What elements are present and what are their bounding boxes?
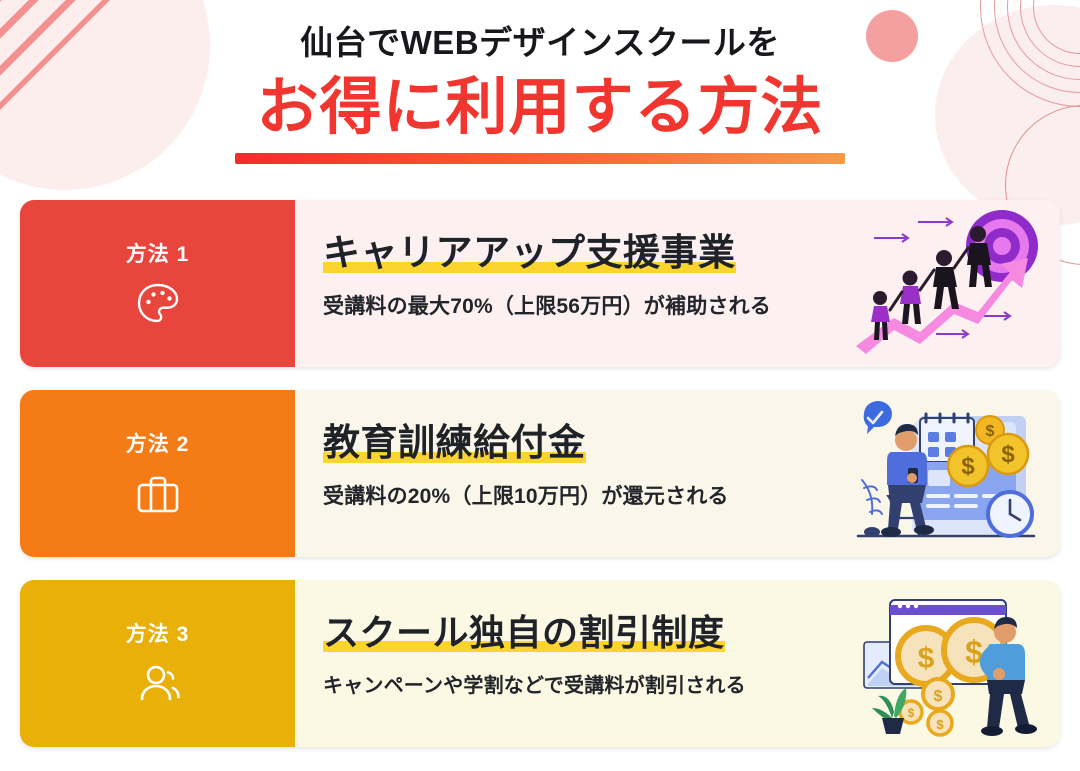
briefcase-icon — [132, 468, 184, 520]
svg-text:$: $ — [918, 642, 935, 675]
palette-icon — [132, 278, 184, 330]
method-card-1-panel: 方法 1 — [20, 200, 295, 367]
method-card-2-body: 教育訓練給付金 受講料の20%（上限10万円）が還元される — [295, 390, 1060, 557]
method-card-3-panel: 方法 3 — [20, 580, 295, 747]
title-underline-bar — [235, 153, 845, 164]
method-card-3-body: スクール独自の割引制度 キャンペーンや学割などで受講料が割引される — [295, 580, 1060, 747]
method-card-3-label: 方法 3 — [126, 618, 190, 648]
svg-text:$: $ — [936, 717, 944, 732]
title-subtitle: 仙台でWEBデザインスクールを — [0, 22, 1080, 65]
method-card-2-label: 方法 2 — [126, 428, 190, 458]
users-icon — [132, 658, 184, 710]
person-with-coins-and-chart-illustration: $ $ $ $ $ — [850, 586, 1046, 741]
method-card-3-title: スクール独自の割引制度 — [323, 613, 725, 653]
page-title: 仙台でWEBデザインスクールを お得に利用する方法 — [0, 22, 1080, 164]
title-main: お得に利用する方法 — [0, 69, 1080, 147]
method-card-2-title: 教育訓練給付金 — [323, 423, 586, 464]
svg-text:$: $ — [961, 453, 975, 480]
method-card-list: 方法 1 キャリアアップ支援事業 受講料の最大70%（上限56万円）が補助される — [20, 200, 1060, 770]
svg-text:$: $ — [908, 706, 915, 720]
people-climbing-arrow-to-target-illustration — [850, 206, 1046, 361]
method-card-1[interactable]: 方法 1 キャリアアップ支援事業 受講料の最大70%（上限56万円）が補助される — [20, 200, 1060, 367]
svg-text:$: $ — [934, 688, 943, 705]
method-card-1-body: キャリアアップ支援事業 受講料の最大70%（上限56万円）が補助される — [295, 200, 1060, 367]
method-card-2[interactable]: 方法 2 教育訓練給付金 受講料の20%（上限10万円）が還元される — [20, 390, 1060, 557]
method-card-3[interactable]: 方法 3 スクール独自の割引制度 キャンペーンや学割などで受講料が割引される — [20, 580, 1060, 747]
svg-text:$: $ — [1001, 441, 1015, 468]
method-card-1-title: キャリアアップ支援事業 — [323, 233, 736, 274]
person-with-credit-card-and-coins-illustration: $ $ $ — [850, 396, 1046, 551]
svg-text:$: $ — [986, 423, 995, 440]
method-card-1-label: 方法 1 — [126, 238, 190, 268]
method-card-2-panel: 方法 2 — [20, 390, 295, 557]
